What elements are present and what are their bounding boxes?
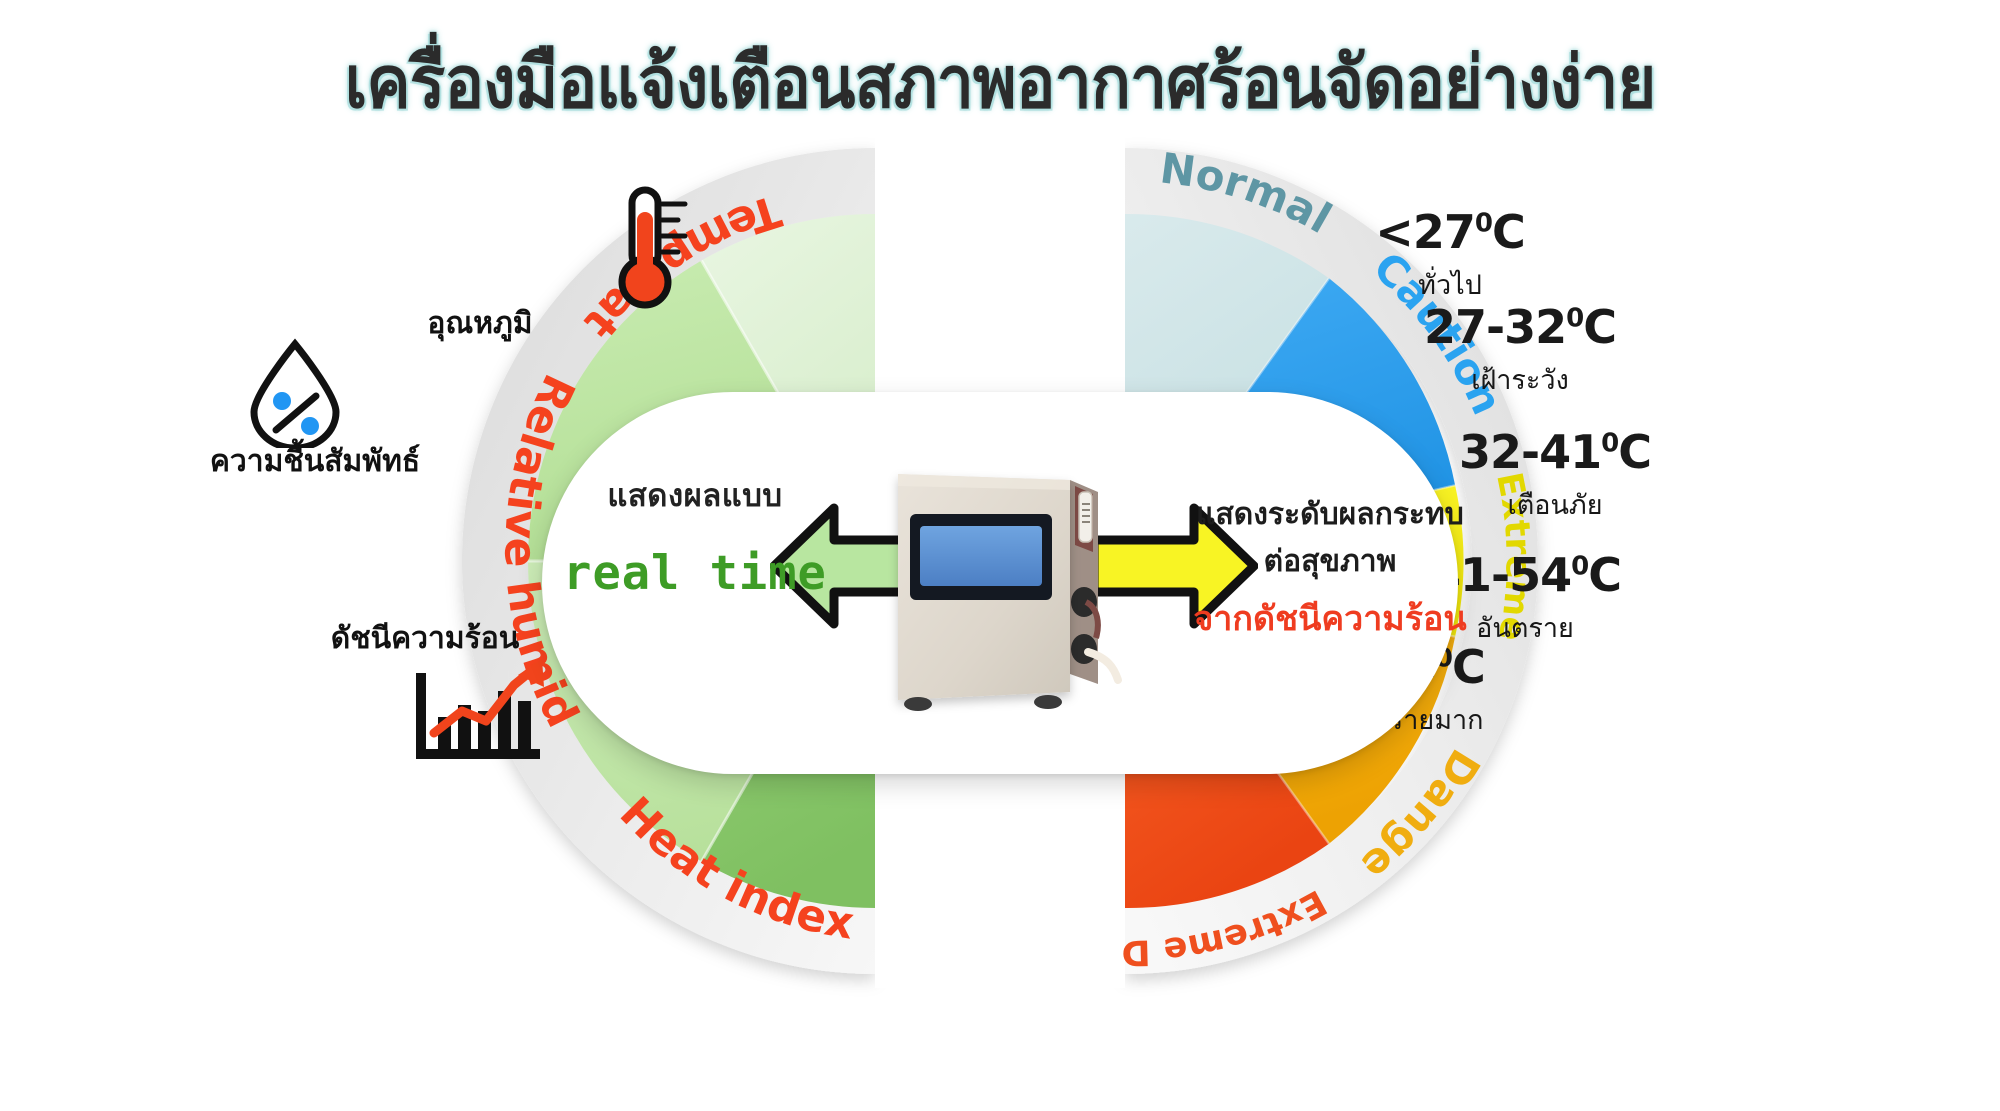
center-right-text: แสดงระดับผลกระทบ ต่อสุขภาพ จากดัชนีความร… (1150, 492, 1510, 646)
center-right-line2: ต่อสุขภาพ (1150, 539, 1510, 586)
page-title: เครื่องมือแจ้งเตือนสภาพอากาศร้อนจัดอย่าง… (80, 24, 1920, 139)
center-left-realtime: real time (560, 546, 830, 601)
device-side-panel (1070, 480, 1118, 684)
center-left-line1: แสดงผลแบบ (560, 470, 830, 520)
center-right-line3: จากดัชนีความร้อน (1150, 593, 1510, 646)
infographic-canvas: เครื่องมือแจ้งเตือนสภาพอากาศร้อนจัดอย่าง… (0, 0, 2000, 1111)
left-segment-label-humidity: ความชื้นสัมพัทธ์ (150, 438, 480, 485)
left-segment-label-heat-index: ดัชนีความร้อน (260, 615, 590, 662)
left-segment-label-temperature: อุณหภูมิ (330, 300, 630, 347)
center-right-line1: แสดงระดับผลกระทบ (1150, 492, 1510, 539)
device-lcd-screen (920, 526, 1042, 586)
center-left-text: แสดงผลแบบ real time (560, 470, 830, 601)
heat-index-display-device (872, 452, 1172, 732)
